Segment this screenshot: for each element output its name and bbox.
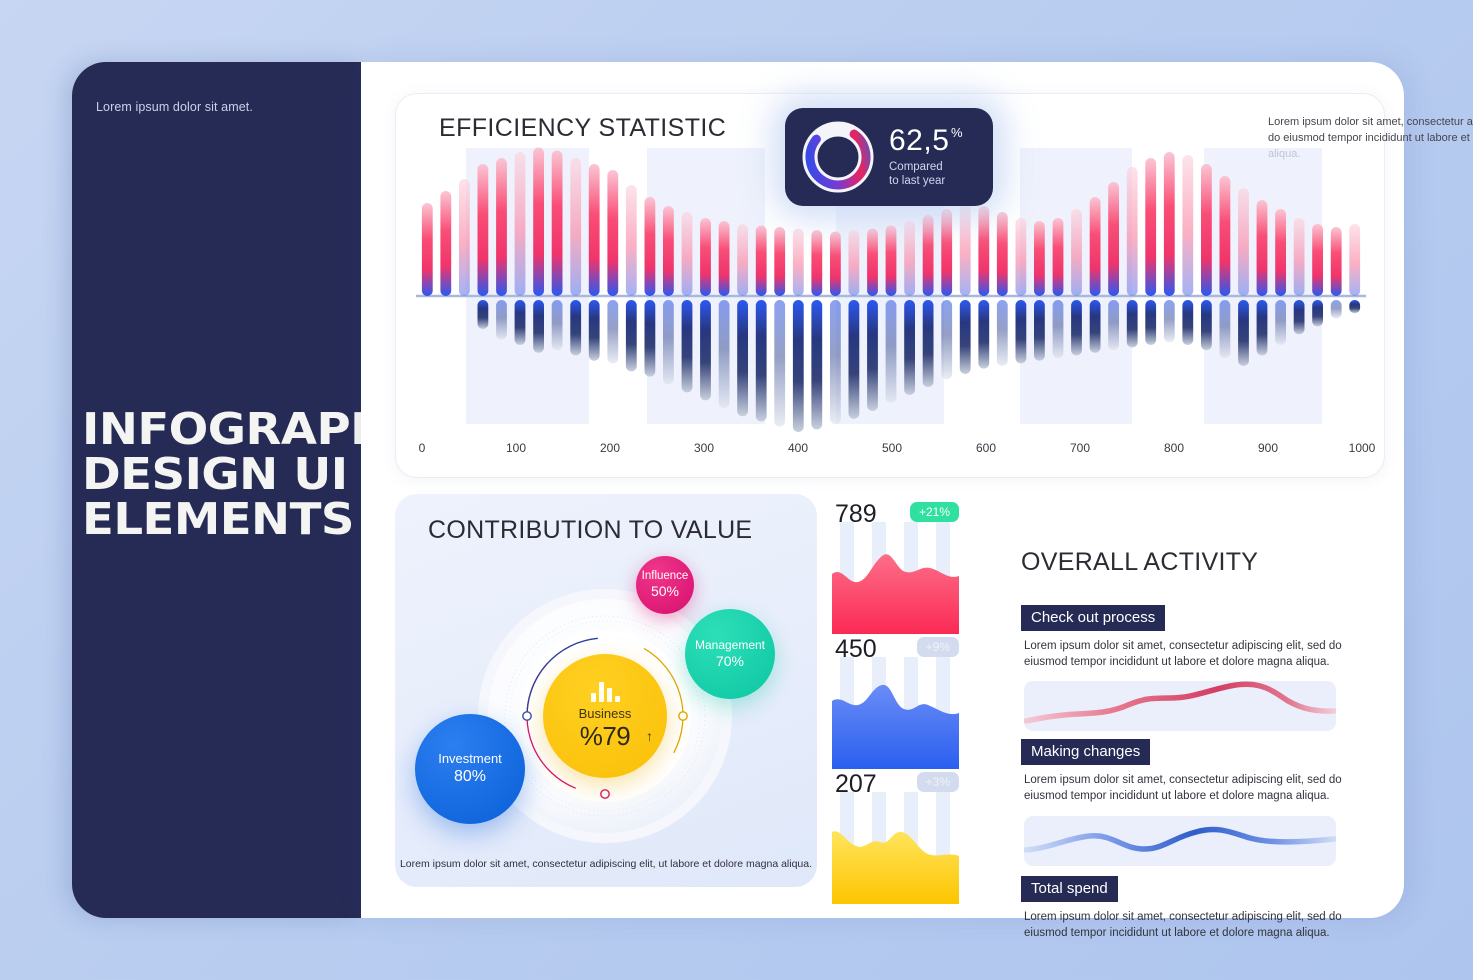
bubble-influence-label: Influence xyxy=(642,569,689,583)
kpi-caption: Compared to last year xyxy=(889,160,945,188)
section-body-total-spend: Lorem ipsum dolor sit amet, consectetur … xyxy=(1024,909,1346,941)
stat-number-450: 450 xyxy=(835,635,877,664)
section-tag-total-spend[interactable]: Total spend xyxy=(1021,876,1118,902)
kpi-value: 62,5 xyxy=(889,124,949,158)
stat-card-789[interactable]: 789 +21% xyxy=(832,522,959,634)
section-body-check-out-process: Lorem ipsum dolor sit amet, consectetur … xyxy=(1024,638,1346,670)
kpi-unit: % xyxy=(951,125,963,140)
stat-card-450[interactable]: 450 +9% xyxy=(832,657,959,769)
kpi-caption-line-2: to last year xyxy=(889,174,945,188)
x-tick-0: 0 xyxy=(419,441,426,455)
contribution-caption: Lorem ipsum dolor sit amet, consectetur … xyxy=(395,858,817,870)
stat-number-789: 789 xyxy=(835,500,877,529)
bubble-management-value: 70% xyxy=(716,653,744,671)
contribution-to-value-card: CONTRIBUTION TO VALUE xyxy=(395,494,817,887)
poster-title-line-2: DESIGN UI xyxy=(82,452,379,497)
x-tick-900: 900 xyxy=(1258,441,1278,455)
x-tick-300: 300 xyxy=(694,441,714,455)
stat-delta-789: +21% xyxy=(910,502,959,522)
overall-activity-title: OVERALL ACTIVITY xyxy=(1021,548,1258,577)
trend-strip-total-spend xyxy=(1024,816,1336,866)
x-tick-200: 200 xyxy=(600,441,620,455)
kpi-caption-line-1: Compared xyxy=(889,160,945,174)
poster-title-line-3: ELEMENTS xyxy=(82,497,379,542)
x-tick-600: 600 xyxy=(976,441,996,455)
x-tick-500: 500 xyxy=(882,441,902,455)
x-tick-800: 800 xyxy=(1164,441,1184,455)
overall-activity-section: OVERALL ACTIVITY 789 +21% 450 +9% xyxy=(832,486,1392,891)
stat-card-207[interactable]: 207 +3% xyxy=(832,792,959,904)
bubble-management[interactable]: Management 70% xyxy=(685,609,775,699)
bubble-investment-label: Investment xyxy=(438,751,502,767)
infographic-poster: Lorem ipsum dolor sit amet. INFOGRAPHICS… xyxy=(72,62,1404,918)
contribution-chart: Business %79 ↑ Influence 50% Management … xyxy=(395,544,817,874)
contribution-title: CONTRIBUTION TO VALUE xyxy=(428,516,752,545)
poster-title-line-1: INFOGRAPHICS xyxy=(82,407,379,452)
trend-line-total-spend xyxy=(1024,816,1336,866)
business-value: %79 xyxy=(580,721,631,752)
bubble-investment-value: 80% xyxy=(454,767,486,787)
efficiency-x-axis: 01002003004005006007008009001000 xyxy=(412,441,1370,463)
x-tick-700: 700 xyxy=(1070,441,1090,455)
business-label: Business xyxy=(579,706,632,721)
stat-delta-207: +3% xyxy=(917,772,959,792)
x-tick-1000: 1000 xyxy=(1349,441,1376,455)
section-tag-check-out-process[interactable]: Check out process xyxy=(1021,605,1165,631)
kpi-badge[interactable]: 62,5 % Compared to last year xyxy=(785,108,993,206)
bubble-management-label: Management xyxy=(695,638,765,653)
sidebar-lorem-text: Lorem ipsum dolor sit amet. xyxy=(96,100,253,114)
bar-chart-icon xyxy=(591,680,620,702)
poster-title: INFOGRAPHICS DESIGN UI ELEMENTS xyxy=(82,407,379,542)
progress-ring-icon xyxy=(801,120,875,194)
section-body-making-changes: Lorem ipsum dolor sit amet, consectetur … xyxy=(1024,772,1346,804)
efficiency-statistic-card: EFFICIENCY STATISTIC Lorem ipsum dolor s… xyxy=(395,93,1385,478)
sparkline-789 xyxy=(832,522,959,634)
sidebar-panel: Lorem ipsum dolor sit amet. INFOGRAPHICS… xyxy=(72,62,361,918)
x-tick-100: 100 xyxy=(506,441,526,455)
sparkline-450 xyxy=(832,657,959,769)
bubble-investment[interactable]: Investment 80% xyxy=(415,714,525,824)
trend-line-check-out-process xyxy=(1024,681,1336,731)
bubble-influence-value: 50% xyxy=(651,583,679,601)
trend-strip-check-out-process xyxy=(1024,681,1336,731)
x-tick-400: 400 xyxy=(788,441,808,455)
stat-number-207: 207 xyxy=(835,770,877,799)
bubble-influence[interactable]: Influence 50% xyxy=(636,556,694,614)
sparkline-207 xyxy=(832,792,959,904)
business-core-node[interactable]: Business %79 ↑ xyxy=(543,654,667,778)
stat-delta-450: +9% xyxy=(917,637,959,657)
trend-up-arrow-icon: ↑ xyxy=(646,728,653,744)
section-tag-making-changes[interactable]: Making changes xyxy=(1021,739,1150,765)
